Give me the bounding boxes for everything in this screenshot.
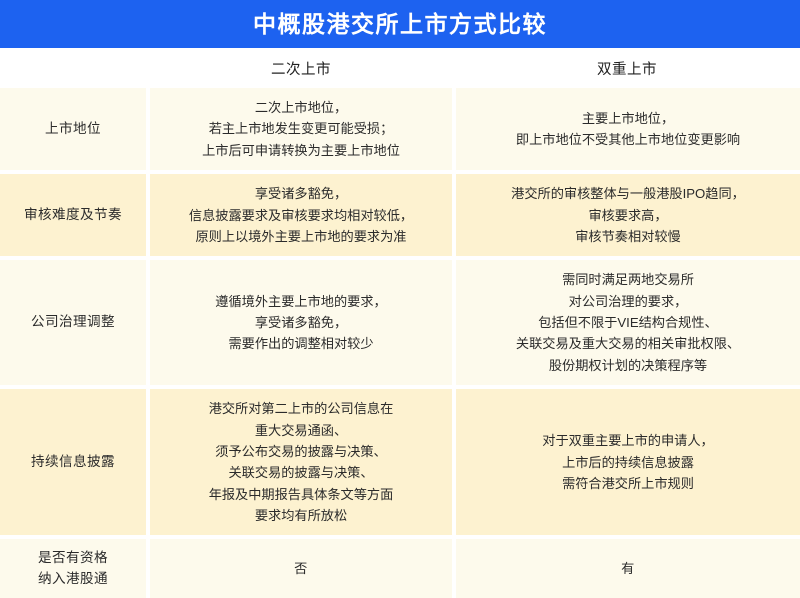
cell-line: 是否有资格 bbox=[6, 548, 140, 568]
comparison-table-page: 中概股港交所上市方式比较 二次上市 双重上市 上市地位 二次上市地位， 若主上市… bbox=[0, 0, 800, 586]
row-label-stock-connect-eligibility: 是否有资格 纳入港股通 bbox=[0, 537, 148, 598]
cell-line: 对于双重主要上市的申请人， bbox=[466, 430, 790, 451]
cell-line: 须予公布交易的披露与决策、 bbox=[160, 441, 442, 462]
cell-line: 股份期权计划的决策程序等 bbox=[466, 355, 790, 376]
row-label-ongoing-disclosure: 持续信息披露 bbox=[0, 387, 148, 537]
row-label-corporate-governance: 公司治理调整 bbox=[0, 258, 148, 387]
cell-line: 上市后可申请转换为主要上市地位 bbox=[160, 140, 442, 161]
cell-line: 需要作出的调整相对较少 bbox=[160, 333, 442, 354]
table-row: 是否有资格 纳入港股通 否 有 bbox=[0, 537, 800, 598]
column-header-label bbox=[0, 48, 148, 88]
row-label-listing-status: 上市地位 bbox=[0, 88, 148, 172]
cell-line: 包括但不限于VIE结构合规性、 bbox=[466, 312, 790, 333]
cell-line: 要求均有所放松 bbox=[160, 505, 442, 526]
title-bar: 中概股港交所上市方式比较 bbox=[0, 0, 800, 48]
cell-line: 对公司治理的要求， bbox=[466, 291, 790, 312]
cell-line: 年报及中期报告具体条文等方面 bbox=[160, 484, 442, 505]
cell-line: 纳入港股通 bbox=[6, 569, 140, 589]
comparison-table: 二次上市 双重上市 上市地位 二次上市地位， 若主上市地发生变更可能受损； 上市… bbox=[0, 48, 800, 598]
cell-secondary-ongoing-disclosure: 港交所对第二上市的公司信息在 重大交易通函、 须予公布交易的披露与决策、 关联交… bbox=[148, 387, 454, 537]
table-row: 持续信息披露 港交所对第二上市的公司信息在 重大交易通函、 须予公布交易的披露与… bbox=[0, 387, 800, 537]
cell-line: 若主上市地发生变更可能受损； bbox=[160, 118, 442, 139]
cell-line: 主要上市地位， bbox=[466, 108, 790, 129]
cell-line: 遵循境外主要上市地的要求， bbox=[160, 291, 442, 312]
cell-line: 港交所的审核整体与一般港股IPO趋同， bbox=[466, 183, 790, 204]
cell-line: 上市后的持续信息披露 bbox=[466, 452, 790, 473]
cell-line: 重大交易通函、 bbox=[160, 420, 442, 441]
cell-line: 信息披露要求及审核要求均相对较低， bbox=[160, 205, 442, 226]
cell-dual-primary-listing-status: 主要上市地位， 即上市地位不受其他上市地位变更影响 bbox=[454, 88, 800, 172]
column-header-dual-primary-listing: 双重上市 bbox=[454, 48, 800, 88]
cell-line: 享受诸多豁免， bbox=[160, 183, 442, 204]
cell-line: 享受诸多豁免， bbox=[160, 312, 442, 333]
cell-line: 即上市地位不受其他上市地位变更影响 bbox=[466, 129, 790, 150]
table-body: 上市地位 二次上市地位， 若主上市地发生变更可能受损； 上市后可申请转换为主要上… bbox=[0, 88, 800, 598]
cell-line: 关联交易及重大交易的相关审批权限、 bbox=[466, 333, 790, 354]
column-header-secondary-listing: 二次上市 bbox=[148, 48, 454, 88]
cell-dual-primary-stock-connect-eligibility: 有 bbox=[454, 537, 800, 598]
cell-dual-primary-review-difficulty: 港交所的审核整体与一般港股IPO趋同， 审核要求高， 审核节奏相对较慢 bbox=[454, 172, 800, 258]
table-head: 二次上市 双重上市 bbox=[0, 48, 800, 88]
cell-line: 需同时满足两地交易所 bbox=[466, 269, 790, 290]
table-row: 审核难度及节奏 享受诸多豁免， 信息披露要求及审核要求均相对较低， 原则上以境外… bbox=[0, 172, 800, 258]
cell-line: 关联交易的披露与决策、 bbox=[160, 462, 442, 483]
cell-dual-primary-ongoing-disclosure: 对于双重主要上市的申请人， 上市后的持续信息披露 需符合港交所上市规则 bbox=[454, 387, 800, 537]
page-title: 中概股港交所上市方式比较 bbox=[253, 13, 547, 36]
row-label-review-difficulty: 审核难度及节奏 bbox=[0, 172, 148, 258]
cell-dual-primary-corporate-governance: 需同时满足两地交易所 对公司治理的要求， 包括但不限于VIE结构合规性、 关联交… bbox=[454, 258, 800, 387]
cell-line: 港交所对第二上市的公司信息在 bbox=[160, 398, 442, 419]
cell-line: 原则上以境外主要上市地的要求为准 bbox=[160, 226, 442, 247]
cell-secondary-stock-connect-eligibility: 否 bbox=[148, 537, 454, 598]
cell-line: 二次上市地位， bbox=[160, 97, 442, 118]
cell-secondary-listing-status: 二次上市地位， 若主上市地发生变更可能受损； 上市后可申请转换为主要上市地位 bbox=[148, 88, 454, 172]
table-row: 公司治理调整 遵循境外主要上市地的要求， 享受诸多豁免， 需要作出的调整相对较少… bbox=[0, 258, 800, 387]
cell-secondary-review-difficulty: 享受诸多豁免， 信息披露要求及审核要求均相对较低， 原则上以境外主要上市地的要求… bbox=[148, 172, 454, 258]
table-row: 上市地位 二次上市地位， 若主上市地发生变更可能受损； 上市后可申请转换为主要上… bbox=[0, 88, 800, 172]
cell-line: 审核要求高， bbox=[466, 205, 790, 226]
column-header-row: 二次上市 双重上市 bbox=[0, 48, 800, 88]
cell-line: 需符合港交所上市规则 bbox=[466, 473, 790, 494]
cell-secondary-corporate-governance: 遵循境外主要上市地的要求， 享受诸多豁免， 需要作出的调整相对较少 bbox=[148, 258, 454, 387]
cell-line: 审核节奏相对较慢 bbox=[466, 226, 790, 247]
